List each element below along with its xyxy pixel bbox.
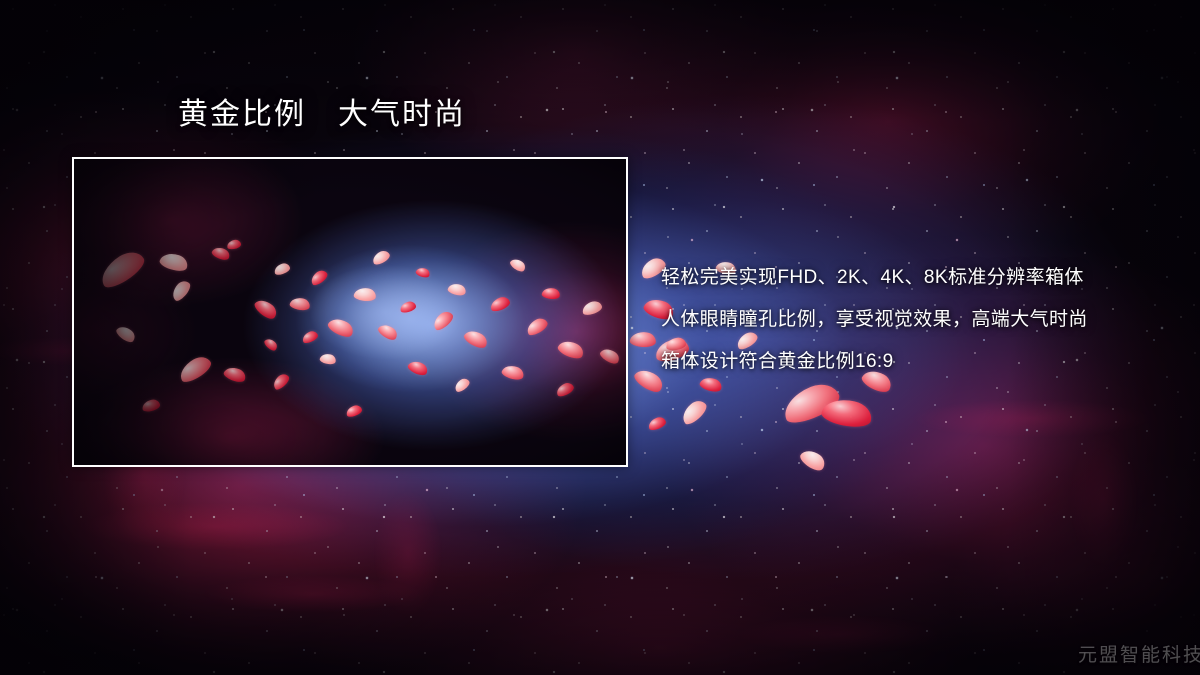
petal	[647, 415, 668, 431]
petal	[820, 395, 874, 431]
description-line-3: 箱体设计符合黄金比例16:9	[661, 341, 1181, 383]
brand-watermark: 元盟智能科技	[1078, 640, 1200, 667]
presentation-slide: 黄金比例 大气时尚 轻松完美实现FHD、2K、4K、8K标准分辨率箱体 人体眼睛…	[0, 0, 1200, 675]
petal	[629, 331, 656, 349]
petal	[778, 378, 843, 428]
petal	[678, 397, 710, 427]
framed-image	[72, 157, 628, 467]
page-title: 黄金比例 大气时尚	[178, 100, 466, 130]
description-line-2: 人体眼睛瞳孔比例，享受视觉效果，高端大气时尚	[661, 299, 1181, 341]
description-line-1: 轻松完美实现FHD、2K、4K、8K标准分辨率箱体	[661, 257, 1181, 299]
framed-image-content	[74, 159, 626, 465]
petal	[798, 446, 828, 474]
framed-image-shading	[74, 159, 626, 465]
feature-description: 轻松完美实现FHD、2K、4K、8K标准分辨率箱体 人体眼睛瞳孔比例，享受视觉效…	[661, 257, 1181, 383]
